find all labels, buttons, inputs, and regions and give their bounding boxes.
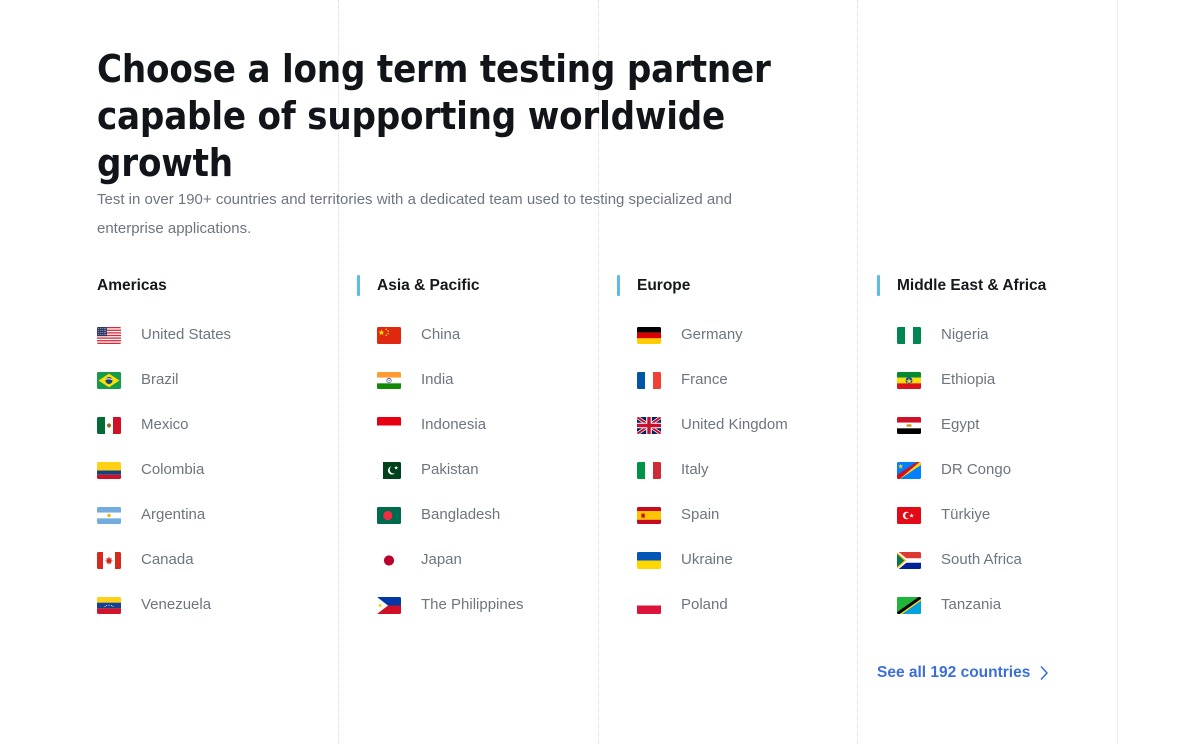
country-name: China <box>421 325 460 345</box>
region-column-title: Americas <box>97 276 357 296</box>
country-name: France <box>681 370 728 390</box>
see-all-countries-label: See all 192 countries <box>877 664 1030 682</box>
list-item[interactable]: Tanzania <box>897 593 1137 617</box>
flag-br-icon <box>97 372 124 389</box>
page-title: Choose a long term testing partner capab… <box>97 46 827 187</box>
region-column-title: Europe <box>637 276 877 296</box>
country-name: The Philippines <box>421 595 524 615</box>
flag-jp-icon <box>377 552 404 569</box>
list-item[interactable]: Argentina <box>97 503 357 527</box>
list-item[interactable]: DR Congo <box>897 458 1137 482</box>
region-column: EuropeGermanyFranceUnited KingdomItalySp… <box>617 276 877 638</box>
flag-fr-icon <box>637 372 664 389</box>
flag-ng-icon <box>897 327 924 344</box>
flag-et-icon <box>897 372 924 389</box>
country-name: Italy <box>681 460 709 480</box>
flag-cn-icon <box>377 327 404 344</box>
list-item[interactable]: Egypt <box>897 413 1137 437</box>
country-name: Bangladesh <box>421 505 500 525</box>
country-name: Japan <box>421 550 462 570</box>
section-description: Test in over 190+ countries and territor… <box>97 185 787 243</box>
flag-gb-icon <box>637 417 664 434</box>
list-item[interactable]: Japan <box>377 548 617 572</box>
chevron-right-icon <box>1040 666 1049 680</box>
flag-za-icon <box>897 552 924 569</box>
country-name: Poland <box>681 595 728 615</box>
flag-pl-icon <box>637 597 664 614</box>
country-list: GermanyFranceUnited KingdomItalySpainUkr… <box>637 323 877 617</box>
list-item[interactable]: Italy <box>637 458 877 482</box>
country-name: United Kingdom <box>681 415 788 435</box>
flag-tz-icon <box>897 597 924 614</box>
flag-it-icon <box>637 462 664 479</box>
flag-bd-icon <box>377 507 404 524</box>
country-name: DR Congo <box>941 460 1011 480</box>
list-item[interactable]: United Kingdom <box>637 413 877 437</box>
flag-ph-icon <box>377 597 404 614</box>
country-name: United States <box>141 325 231 345</box>
country-name: Nigeria <box>941 325 989 345</box>
region-column: AmericasUnited StatesBrazilMexicoColombi… <box>97 276 357 638</box>
flag-id-icon <box>377 417 404 434</box>
list-item[interactable]: India <box>377 368 617 392</box>
country-name: Ukraine <box>681 550 733 570</box>
flag-ua-icon <box>637 552 664 569</box>
country-name: Argentina <box>141 505 205 525</box>
list-item[interactable]: Pakistan <box>377 458 617 482</box>
flag-es-icon <box>637 507 664 524</box>
list-item[interactable]: Poland <box>637 593 877 617</box>
list-item[interactable]: Spain <box>637 503 877 527</box>
flag-tr-icon <box>897 507 924 524</box>
list-item[interactable]: Indonesia <box>377 413 617 437</box>
flag-us-icon <box>97 327 124 344</box>
region-columns: AmericasUnited StatesBrazilMexicoColombi… <box>97 276 1137 638</box>
country-list: United StatesBrazilMexicoColombiaArgenti… <box>97 323 357 617</box>
list-item[interactable]: Ethiopia <box>897 368 1137 392</box>
list-item[interactable]: Brazil <box>97 368 357 392</box>
country-name: Venezuela <box>141 595 211 615</box>
list-item[interactable]: Mexico <box>97 413 357 437</box>
region-column: Middle East & AfricaNigeriaEthiopiaEgypt… <box>877 276 1137 638</box>
list-item[interactable]: Germany <box>637 323 877 347</box>
country-name: Türkiye <box>941 505 990 525</box>
list-item[interactable]: Bangladesh <box>377 503 617 527</box>
country-list: ChinaIndiaIndonesiaPakistanBangladeshJap… <box>377 323 617 617</box>
region-column-title: Asia & Pacific <box>377 276 617 296</box>
flag-in-icon <box>377 372 404 389</box>
list-item[interactable]: Türkiye <box>897 503 1137 527</box>
flag-pk-icon <box>377 462 404 479</box>
country-name: Indonesia <box>421 415 486 435</box>
country-name: Mexico <box>141 415 189 435</box>
list-item[interactable]: Canada <box>97 548 357 572</box>
country-name: Ethiopia <box>941 370 995 390</box>
country-list: NigeriaEthiopiaEgyptDR CongoTürkiyeSouth… <box>897 323 1137 617</box>
region-column-title: Middle East & Africa <box>897 276 1137 296</box>
country-name: Egypt <box>941 415 979 435</box>
region-column: Asia & PacificChinaIndiaIndonesiaPakista… <box>357 276 617 638</box>
country-name: India <box>421 370 454 390</box>
country-name: Spain <box>681 505 719 525</box>
flag-co-icon <box>97 462 124 479</box>
flag-ar-icon <box>97 507 124 524</box>
country-name: Pakistan <box>421 460 479 480</box>
country-name: Colombia <box>141 460 204 480</box>
country-name: Canada <box>141 550 194 570</box>
flag-de-icon <box>637 327 664 344</box>
list-item[interactable]: France <box>637 368 877 392</box>
list-item[interactable]: Venezuela <box>97 593 357 617</box>
country-name: South Africa <box>941 550 1022 570</box>
flag-ve-icon <box>97 597 124 614</box>
country-name: Germany <box>681 325 743 345</box>
flag-ca-icon <box>97 552 124 569</box>
list-item[interactable]: The Philippines <box>377 593 617 617</box>
list-item[interactable]: China <box>377 323 617 347</box>
list-item[interactable]: Nigeria <box>897 323 1137 347</box>
list-item[interactable]: South Africa <box>897 548 1137 572</box>
country-name: Tanzania <box>941 595 1001 615</box>
list-item[interactable]: Colombia <box>97 458 357 482</box>
list-item[interactable]: Ukraine <box>637 548 877 572</box>
content-wrapper: Choose a long term testing partner capab… <box>97 0 1200 744</box>
country-coverage-section: Choose a long term testing partner capab… <box>0 0 1200 744</box>
flag-eg-icon <box>897 417 924 434</box>
list-item[interactable]: United States <box>97 323 357 347</box>
flag-cd-icon <box>897 462 924 479</box>
flag-mx-icon <box>97 417 124 434</box>
see-all-countries-link[interactable]: See all 192 countries <box>877 664 1049 682</box>
country-name: Brazil <box>141 370 179 390</box>
